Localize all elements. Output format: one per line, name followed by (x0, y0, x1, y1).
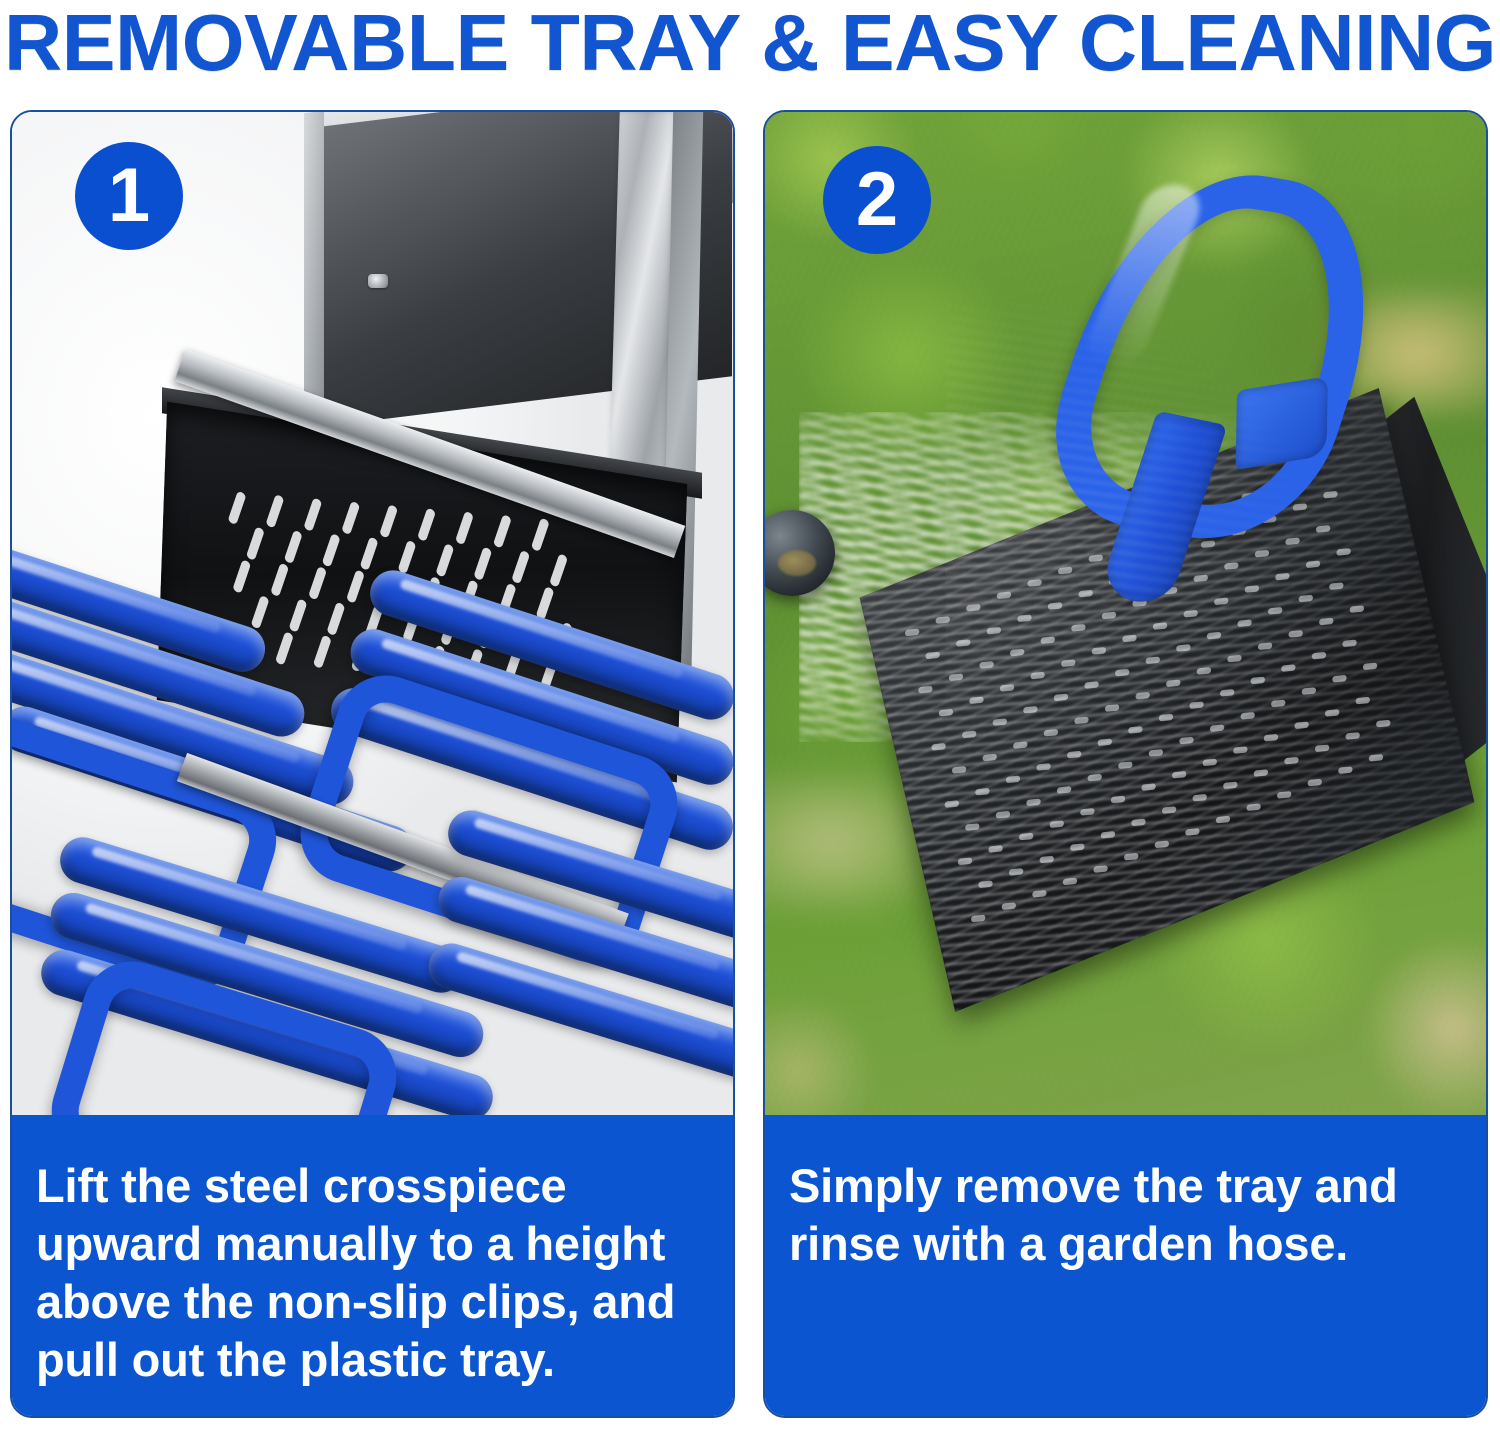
page-title: REMOVABLE TRAY & EASY CLEANING (0, 0, 1500, 86)
tray-slot (549, 553, 568, 588)
tray-slot (322, 533, 341, 568)
tray-slot (360, 536, 379, 571)
tray-slot (270, 562, 289, 597)
water-spray-overlay (945, 282, 1486, 762)
tray-slot (288, 598, 307, 633)
step-panel-2: 2 Simply remove the tray and rinse with … (763, 110, 1488, 1418)
tray-slot (265, 494, 284, 529)
tray-slot (326, 601, 345, 636)
tray-slot (511, 550, 530, 585)
step-1-caption: Lift the steel crosspiece upward manuall… (12, 1115, 733, 1416)
tray-slot (284, 530, 303, 565)
bolt-icon (368, 274, 388, 288)
tray-slot (341, 501, 360, 536)
step-2-caption-text: Simply remove the tray and rinse with a … (789, 1157, 1460, 1273)
tray-slot (417, 507, 436, 542)
page-title-text: REMOVABLE TRAY & EASY CLEANING (4, 3, 1496, 83)
tray-slot (308, 566, 327, 601)
dry-grass-patch (765, 777, 926, 907)
tray-slot (531, 517, 550, 552)
tray-slot (435, 543, 454, 578)
step-2-photo: 2 (765, 112, 1486, 1119)
tray-slot (303, 497, 322, 532)
step-badge-1: 1 (75, 142, 183, 250)
tray-slot (473, 546, 492, 581)
tray-slot (251, 595, 270, 630)
tray-slot (313, 634, 332, 669)
cabinet-edge (304, 112, 324, 413)
step-2-caption: Simply remove the tray and rinse with a … (765, 1115, 1486, 1416)
tray-slot (493, 514, 512, 549)
tray-slot (397, 540, 416, 575)
steps-container: 1 Lift the steel crosspiece upward manua… (0, 96, 1500, 1431)
tray-slot (379, 504, 398, 539)
step-badge-1-number: 1 (108, 158, 150, 234)
step-badge-2: 2 (823, 146, 931, 254)
step-panel-1: 1 Lift the steel crosspiece upward manua… (10, 110, 735, 1418)
step-1-photo: 1 (12, 112, 733, 1119)
tray-slot (455, 511, 474, 546)
step-badge-2-number: 2 (856, 162, 898, 238)
tray-slot (275, 631, 294, 666)
step-1-caption-text: Lift the steel crosspiece upward manuall… (36, 1157, 707, 1389)
tray-slot (346, 569, 365, 604)
tray-slot (246, 526, 265, 561)
